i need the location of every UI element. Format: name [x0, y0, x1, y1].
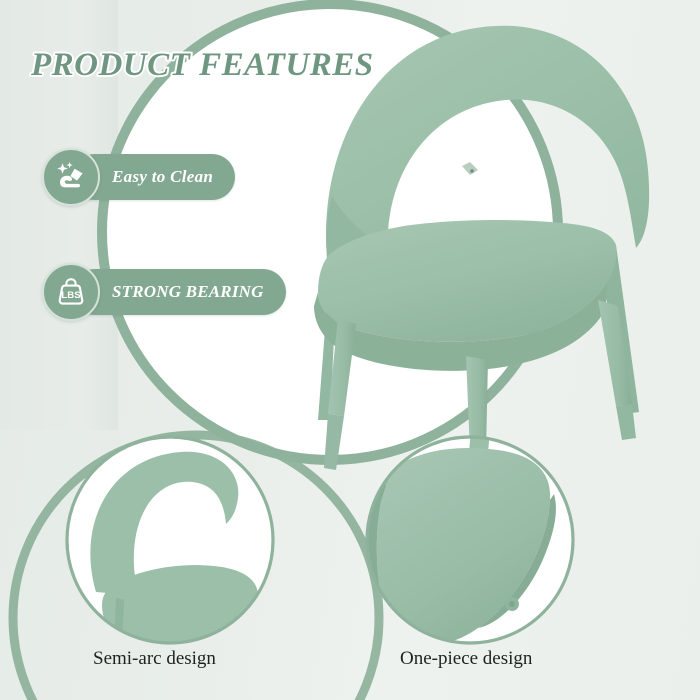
chair-screw-dot [470, 169, 474, 173]
detail-inset-semi-arc [67, 437, 273, 653]
detail-right-screw [509, 601, 515, 607]
page-title: PRODUCT FEATURES [31, 47, 374, 84]
feature-badge-easy-to-clean[interactable]: Easy to Clean [42, 150, 235, 204]
artwork-layer [0, 0, 700, 700]
cleaning-hand-icon [42, 148, 100, 206]
weight-icon: LBS [42, 263, 100, 321]
infographic-canvas: PRODUCT FEATURES Easy to Clean [0, 0, 700, 700]
detail-caption-one-piece: One-piece design [400, 648, 532, 670]
feature-badge-strong-bearing[interactable]: LBS STRONG BEARING [42, 265, 286, 319]
weight-icon-text: LBS [61, 290, 81, 301]
feature-pill-strong-bearing[interactable]: STRONG BEARING [72, 269, 286, 315]
feature-label-easy-to-clean: Easy to Clean [112, 167, 213, 187]
feature-label-strong-bearing: STRONG BEARING [112, 282, 264, 302]
detail-caption-semi-arc: Semi-arc design [93, 648, 216, 670]
